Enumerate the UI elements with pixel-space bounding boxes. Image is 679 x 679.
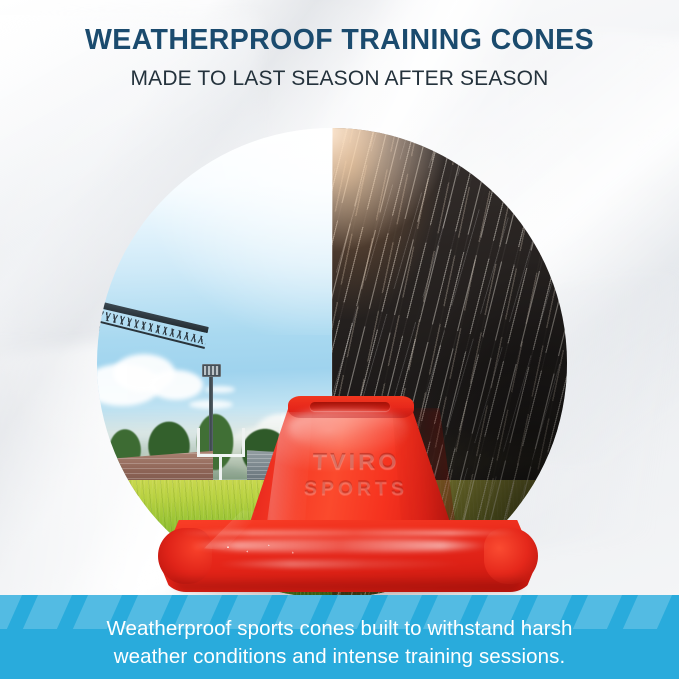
bottom-banner: Weatherproof sports cones built to withs… — [0, 595, 679, 679]
cone-base-shadow-band — [170, 574, 526, 590]
training-cone: TVIRO SPORTS — [160, 398, 536, 598]
page-subtitle: MADE TO LAST SEASON AFTER SEASON — [0, 67, 679, 91]
banner-caption: Weatherproof sports cones built to withs… — [0, 615, 679, 671]
header-block: WEATHERPROOF TRAINING CONES MADE TO LAST… — [0, 24, 679, 91]
cone-base-gloss-lower — [216, 560, 468, 568]
cloud — [149, 370, 203, 400]
cone-embossed-logo: TVIRO SPORTS — [269, 443, 444, 508]
truss-post — [97, 325, 100, 338]
banner-caption-line-2: weather conditions and intense training … — [34, 643, 645, 671]
product-marketing-image: WEATHERPROOF TRAINING CONES MADE TO LAST… — [0, 0, 679, 679]
cone-emboss-brand: TVIRO — [312, 449, 400, 475]
floodlight-head — [202, 364, 221, 377]
cone-water-specks — [216, 540, 336, 558]
cone-emboss-sub: SPORTS — [303, 478, 408, 500]
page-title: WEATHERPROOF TRAINING CONES — [0, 24, 679, 58]
sky-glow — [144, 128, 332, 335]
banner-caption-line-1: Weatherproof sports cones built to withs… — [34, 615, 645, 643]
